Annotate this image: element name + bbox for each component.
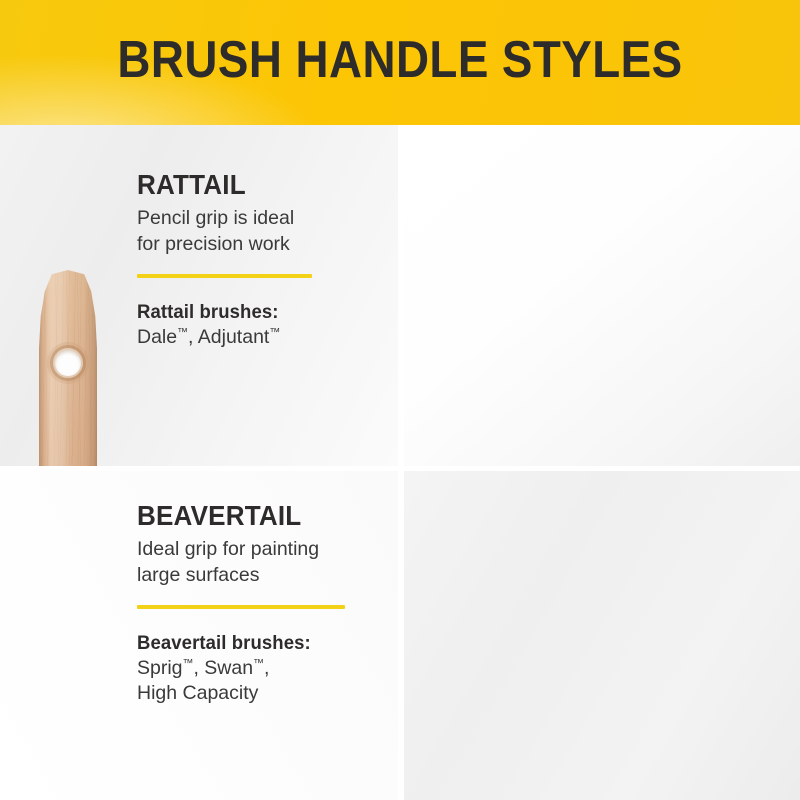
rattail-text-block: RATTAIL Pencil grip is ideal for precisi…: [137, 170, 367, 350]
panel-short: SHORT Handle won’t get in the way when p…: [404, 471, 800, 800]
beavertail-brushes-label: Beavertail brushes:: [137, 631, 370, 655]
rattail-brushes-list: Dale™, Adjutant™: [137, 325, 367, 350]
hang-hole-icon: [55, 350, 81, 376]
beavertail-description-line-1: Ideal grip for painting: [137, 538, 319, 560]
panel-fluted: FLUTED Rests easily in your hand Fluted …: [404, 125, 800, 466]
infographic-root: BRUSH HANDLE STYLES RATTAIL Pencil grip …: [0, 0, 800, 800]
beavertail-brushes-line-2: High Capacity: [137, 682, 258, 704]
rattail-description: Pencil grip is ideal for precision work: [137, 205, 367, 257]
beavertail-accent-rule: [137, 605, 345, 609]
beavertail-brushes-list: Sprig™, Swan™, High Capacity: [137, 656, 382, 706]
header-banner: BRUSH HANDLE STYLES: [0, 0, 800, 125]
rattail-accent-rule: [137, 274, 312, 278]
beavertail-description: Ideal grip for painting large surfaces: [137, 536, 382, 588]
beavertail-description-line-2: large surfaces: [137, 564, 259, 586]
rattail-description-line-1: Pencil grip is ideal: [137, 207, 294, 229]
page-title: BRUSH HANDLE STYLES: [48, 30, 752, 90]
beavertail-text-block: BEAVERTAIL Ideal grip for painting large…: [137, 501, 382, 706]
rattail-brushes-label: Rattail brushes:: [137, 300, 356, 324]
beavertail-style-name: BEAVERTAIL: [137, 501, 365, 531]
rattail-handle-image: [39, 270, 97, 466]
rattail-description-line-2: for precision work: [137, 233, 290, 255]
panel-grid: RATTAIL Pencil grip is ideal for precisi…: [0, 125, 800, 800]
beavertail-brushes-line-1: Sprig™, Swan™,: [137, 657, 269, 679]
rattail-brushes-line-1: Dale™, Adjutant™: [137, 326, 280, 348]
panel-beavertail: BEAVERTAIL Ideal grip for painting large…: [0, 471, 398, 800]
panel-rattail: RATTAIL Pencil grip is ideal for precisi…: [0, 125, 398, 466]
rattail-style-name: RATTAIL: [137, 170, 351, 200]
